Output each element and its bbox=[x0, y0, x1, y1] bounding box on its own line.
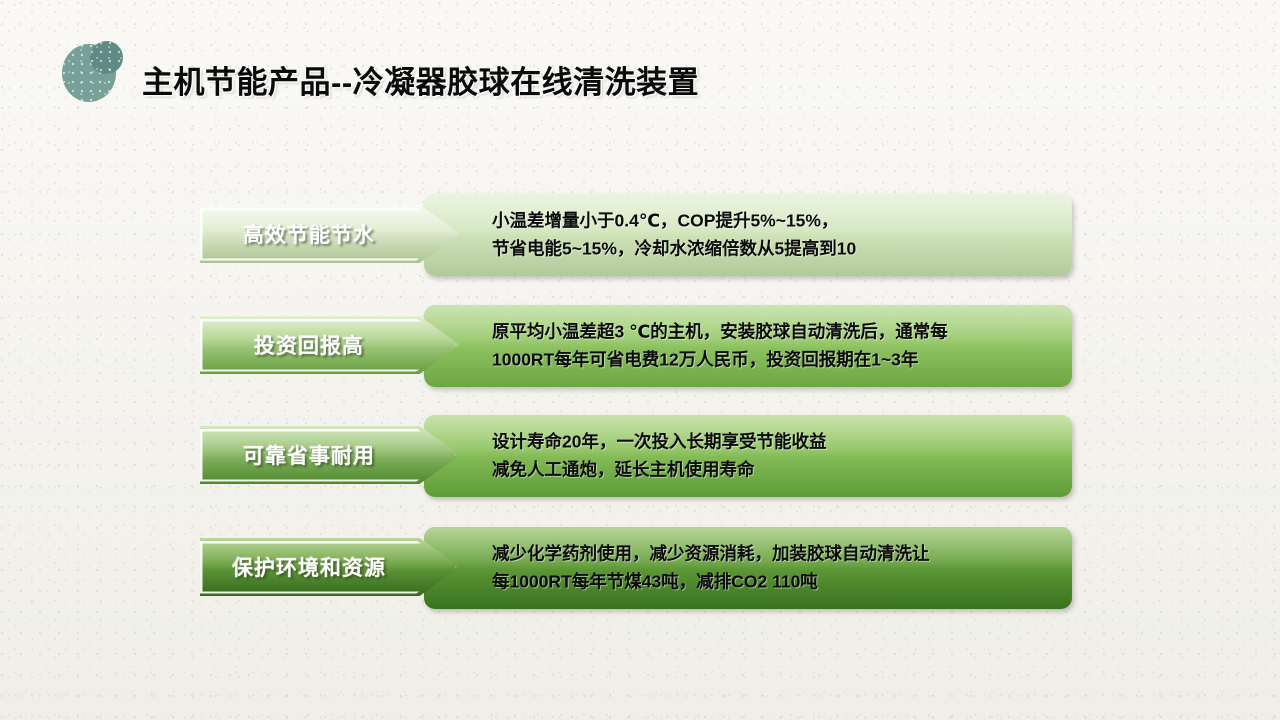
benefit-description: 小温差增量小于0.4℃，COP提升5%~15%，节省电能5~15%，冷却水浓缩倍… bbox=[492, 207, 1058, 264]
benefit-label-text: 高效节能节水 bbox=[200, 219, 418, 249]
benefit-description-line: 小温差增量小于0.4℃，COP提升5%~15%， bbox=[492, 207, 1058, 235]
benefit-content-bar: 设计寿命20年，一次投入长期享受节能收益减免人工通炮，延长主机使用寿命 bbox=[424, 415, 1072, 497]
benefit-content-bar: 减少化学药剂使用，减少资源消耗，加装胶球自动清洗让每1000RT每年节煤43吨，… bbox=[424, 527, 1072, 609]
benefit-description: 设计寿命20年，一次投入长期享受节能收益减免人工通炮，延长主机使用寿命 bbox=[492, 428, 1058, 485]
benefit-label-chevron[interactable]: 保护环境和资源 bbox=[200, 538, 460, 596]
benefit-description: 原平均小温差超3 ℃的主机，安装胶球自动清洗后，通常每1000RT每年可省电费1… bbox=[492, 318, 1058, 375]
benefit-description-line: 设计寿命20年，一次投入长期享受节能收益 bbox=[492, 428, 1058, 456]
benefit-label-text: 可靠省事耐用 bbox=[200, 440, 418, 470]
benefit-description-line: 减少化学药剂使用，减少资源消耗，加装胶球自动清洗让 bbox=[492, 540, 1058, 568]
benefit-label-text: 投资回报高 bbox=[200, 330, 418, 360]
benefit-description-line: 节省电能5~15%，冷却水浓缩倍数从5提高到10 bbox=[492, 235, 1058, 263]
benefit-label-chevron[interactable]: 投资回报高 bbox=[200, 316, 460, 374]
benefit-label-chevron[interactable]: 可靠省事耐用 bbox=[200, 426, 460, 484]
benefit-rows-list: 小温差增量小于0.4℃，COP提升5%~15%，节省电能5~15%，冷却水浓缩倍… bbox=[0, 0, 1280, 720]
benefit-description-line: 原平均小温差超3 ℃的主机，安装胶球自动清洗后，通常每 bbox=[492, 318, 1058, 346]
benefit-content-bar: 原平均小温差超3 ℃的主机，安装胶球自动清洗后，通常每1000RT每年可省电费1… bbox=[424, 305, 1072, 387]
benefit-label-text: 保护环境和资源 bbox=[200, 552, 418, 582]
benefit-label-chevron[interactable]: 高效节能节水 bbox=[200, 205, 460, 263]
benefit-description-line: 1000RT每年可省电费12万人民币，投资回报期在1~3年 bbox=[492, 346, 1058, 374]
benefit-content-bar: 小温差增量小于0.4℃，COP提升5%~15%，节省电能5~15%，冷却水浓缩倍… bbox=[424, 194, 1072, 276]
benefit-description: 减少化学药剂使用，减少资源消耗，加装胶球自动清洗让每1000RT每年节煤43吨，… bbox=[492, 540, 1058, 597]
slide-canvas: 主机节能产品--冷凝器胶球在线清洗装置 小温差增量小于0.4℃，COP提升5%~… bbox=[0, 0, 1280, 720]
benefit-description-line: 减免人工通炮，延长主机使用寿命 bbox=[492, 456, 1058, 484]
benefit-description-line: 每1000RT每年节煤43吨，减排CO2 110吨 bbox=[492, 568, 1058, 596]
